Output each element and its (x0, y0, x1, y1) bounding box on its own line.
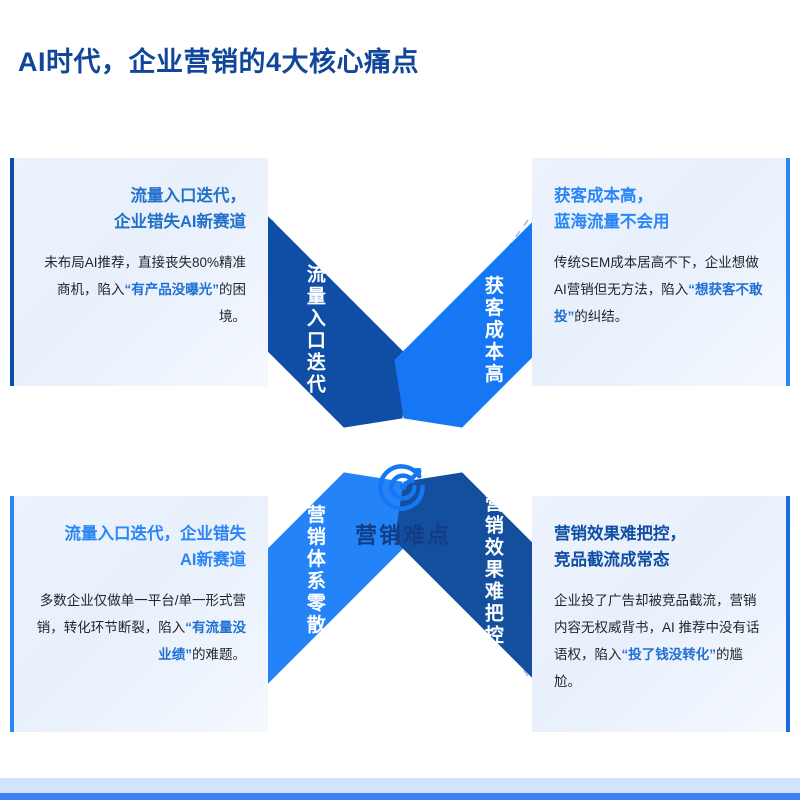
diamond-band-top-left-label: 流量入口迭代 (301, 264, 328, 396)
footer-band-strong (0, 793, 800, 800)
diamond-band-top-right-label: 获客成本高 (479, 275, 506, 385)
pain-point-card-bottom-right[interactable]: 营销效果难把控， 竞品截流成常态 企业投了广告却被竞品截流，营销内容无权威背书，… (532, 496, 790, 732)
card-heading: 流量入口迭代，企业错失 AI新赛道 (32, 522, 246, 573)
card-accent-bar (10, 158, 14, 386)
card-body: 企业投了广告却被竞品截流，营销内容无权威背书，AI 推荐中没有话语权，陷入“投了… (554, 587, 768, 695)
card-body: 多数企业仅做单一平台/单一形式营销，转化环节断裂，陷入“有流量没业绩”的难题。 (32, 587, 246, 668)
card-body: 未布局AI推荐，直接丧失80%精准商机，陷入“有产品没曝光”的困境。 (32, 249, 246, 330)
card-accent-bar (786, 496, 790, 732)
pain-point-card-top-right[interactable]: 获客成本高， 蓝海流量不会用 传统SEM成本居高不下，企业想做AI营销但无方法，… (532, 158, 790, 386)
card-body-text-after: 的难题。 (192, 647, 246, 662)
center-hub: 营销难点 (313, 460, 493, 550)
card-heading: 营销效果难把控， 竞品截流成常态 (554, 522, 768, 573)
pain-point-card-bottom-left[interactable]: 流量入口迭代，企业错失 AI新赛道 多数企业仅做单一平台/单一形式营销，转化环节… (10, 496, 268, 732)
card-body: 传统SEM成本居高不下，企业想做AI营销但无方法，陷入“想获客不敢投”的纠结。 (554, 249, 768, 330)
card-accent-bar (786, 158, 790, 386)
infographic-page: AI时代，企业营销的4大核心痛点 流量入口迭代 获客成本高 营销体系零散 营销效… (0, 0, 800, 800)
diamond-graphic: 流量入口迭代 获客成本高 营销体系零散 营销效果难把控 营销难点 (258, 205, 548, 695)
target-arrow-icon (377, 460, 429, 512)
card-heading: 获客成本高， 蓝海流量不会用 (554, 184, 768, 235)
card-body-text-after: 的纠结。 (574, 309, 628, 324)
card-body-highlight: “投了钱没转化” (622, 647, 717, 662)
card-accent-bar (10, 496, 14, 732)
page-title: AI时代，企业营销的4大核心痛点 (18, 40, 419, 79)
card-heading: 流量入口迭代， 企业错失AI新赛道 (32, 184, 246, 235)
card-body-highlight: “有产品没曝光” (125, 282, 220, 297)
pain-point-card-top-left[interactable]: 流量入口迭代， 企业错失AI新赛道 未布局AI推荐，直接丧失80%精准商机，陷入… (10, 158, 268, 386)
card-body-text-after: 的困境。 (219, 282, 246, 324)
footer-band-light (0, 778, 800, 793)
center-hub-label: 营销难点 (313, 518, 493, 550)
